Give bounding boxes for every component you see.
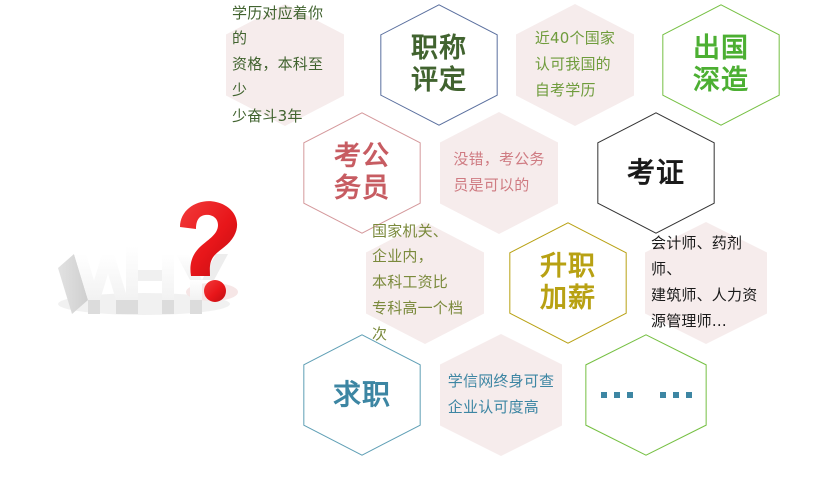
dots-gap xyxy=(640,395,653,396)
why-3d-logo xyxy=(52,196,252,321)
title-title-evaluation[interactable]: 职称 评定 xyxy=(380,4,498,126)
note-chsi-lifelong-label: 学信网终身可查 企业认可度高 xyxy=(442,369,560,421)
note-professional-titles[interactable]: 会计师、药剂师、 建筑师、人力资 源管理师… xyxy=(645,222,767,344)
note-professional-titles-label: 会计师、药剂师、 建筑师、人力资 源管理师… xyxy=(645,231,767,334)
title-civil-servant-exam[interactable]: 考公 务员 xyxy=(303,112,421,234)
dot-marker xyxy=(660,392,666,398)
title-certificate-exam-label: 考证 xyxy=(621,156,691,189)
note-civil-servant-yes-label: 没错，考公务 员是可以的 xyxy=(447,147,550,199)
dot-marker xyxy=(673,392,679,398)
ellipsis-dots xyxy=(601,392,692,398)
dot-marker xyxy=(686,392,692,398)
note-forty-countries[interactable]: 近40个国家 认可我国的 自考学历 xyxy=(516,4,634,126)
dot-marker xyxy=(627,392,633,398)
note-chsi-lifelong[interactable]: 学信网终身可查 企业认可度高 xyxy=(440,334,562,456)
note-degree-qualification-label: 学历对应着你的 资格，本科至少 少奋斗3年 xyxy=(226,1,344,130)
title-promotion-raise[interactable]: 升职 加薪 xyxy=(509,222,627,344)
dots-more[interactable] xyxy=(585,334,707,456)
title-job-seeking[interactable]: 求职 xyxy=(303,334,421,456)
dot-marker xyxy=(614,392,620,398)
title-certificate-exam[interactable]: 考证 xyxy=(597,112,715,234)
hexagon-infographic: 学历对应着你的 资格，本科至少 少奋斗3年职称 评定近40个国家 认可我国的 自… xyxy=(0,0,820,483)
note-civil-servant-yes[interactable]: 没错，考公务 员是可以的 xyxy=(440,112,558,234)
title-study-abroad-label: 出国 深造 xyxy=(687,33,755,97)
note-salary-grade[interactable]: 国家机关、 企业内， 本科工资比 专科高一个档次 xyxy=(366,222,484,344)
note-degree-qualification[interactable]: 学历对应着你的 资格，本科至少 少奋斗3年 xyxy=(226,4,344,126)
title-promotion-raise-label: 升职 加薪 xyxy=(534,251,602,315)
title-job-seeking-label: 求职 xyxy=(327,378,397,411)
note-forty-countries-label: 近40个国家 认可我国的 自考学历 xyxy=(529,26,621,103)
title-civil-servant-exam-label: 考公 务员 xyxy=(328,141,396,205)
dot-marker xyxy=(601,392,607,398)
title-study-abroad[interactable]: 出国 深造 xyxy=(662,4,780,126)
note-salary-grade-label: 国家机关、 企业内， 本科工资比 专科高一个档次 xyxy=(366,219,484,348)
title-title-evaluation-label: 职称 评定 xyxy=(405,33,473,97)
